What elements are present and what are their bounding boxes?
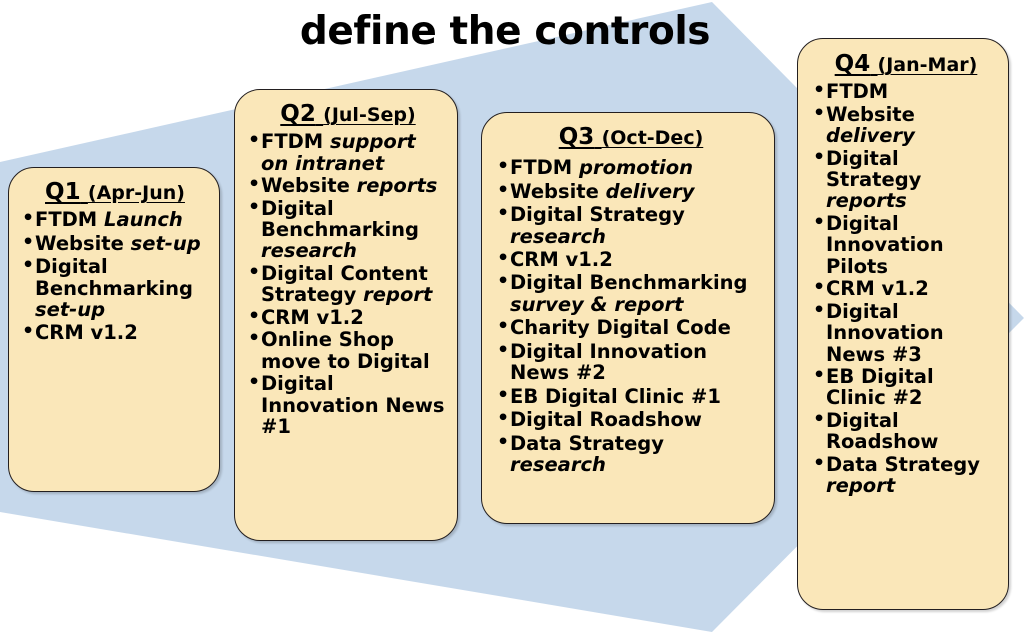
list-item: Charity Digital Code [496,317,766,338]
list-item-text: Data Strategy [510,432,664,455]
list-item-text: Website [826,103,915,126]
list-item-emphasis: research [261,239,357,262]
quarter-heading-q3: Q3 (Oct-Dec) [496,125,766,150]
list-item: Website set-up [21,233,209,254]
list-item-emphasis: set-up [131,232,201,255]
list-item: Digital Benchmarking research [247,198,449,262]
list-item-text: CRM v1.2 [826,277,929,300]
list-item-text: Website [510,180,606,203]
list-item: CRM v1.2 [247,307,449,328]
list-item: Data Strategy report [812,454,1000,497]
list-item-text: FTDM [261,130,330,153]
list-item-text: FTDM [35,208,104,231]
list-item-emphasis: report [363,283,432,306]
list-item-emphasis: report [826,474,895,497]
list-item: FTDM support on intranet [247,131,449,174]
quarter-card-q3[interactable]: Q3 (Oct-Dec) FTDM promotionWebsite deliv… [481,112,775,524]
list-item-emphasis: Launch [104,208,183,231]
slide-canvas: define the controls Q1 (Apr-Jun) FTDM La… [0,0,1024,634]
list-item-emphasis: delivery [826,124,915,147]
list-item-text: Charity Digital Code [510,316,731,339]
list-item-text: Digital Roadshow [510,408,702,431]
list-item-text: Data Strategy [826,453,980,476]
list-item: FTDM Launch [21,209,209,230]
list-item-text: CRM v1.2 [35,321,138,344]
list-item-text: EB Digital Clinic #1 [510,385,721,408]
list-item-text: Digital Roadshow [826,409,938,453]
quarter-heading-q4: Q4 (Jan-Mar) [812,52,1000,77]
quarter-label-q2: Q2 [280,101,316,127]
list-item: Website delivery [812,104,1000,147]
list-item: FTDM [812,81,1000,102]
quarter-period-q4: (Jan-Mar) [878,54,978,76]
quarter-items-q3: FTDM promotionWebsite deliveryDigital St… [496,157,766,475]
list-item-text: FTDM [510,156,579,179]
list-item-emphasis: research [510,453,606,476]
quarter-period-q1: (Apr-Jun) [88,182,185,204]
list-item: Digital Roadshow [496,409,766,430]
list-item-emphasis: promotion [579,156,693,179]
list-item-text: Digital Benchmarking [35,255,193,299]
list-item: Digital Benchmarking survey & report [496,272,766,315]
list-item-text: Website [261,174,357,197]
list-item-text: Digital Benchmarking [510,271,747,294]
list-item-emphasis: research [510,225,606,248]
list-item-text: FTDM [826,80,888,103]
list-item: Website delivery [496,181,766,202]
list-item-emphasis: delivery [606,180,695,203]
list-item: Digital Strategy research [496,204,766,247]
list-item-text: Online Shop move to Digital [261,328,430,372]
list-item: Website reports [247,175,449,196]
list-item-text: Digital Innovation News #1 [261,372,445,438]
list-item: Digital Benchmarking set-up [21,256,209,320]
quarter-card-q2[interactable]: Q2 (Jul-Sep) FTDM support on intranetWeb… [234,89,458,541]
quarter-card-q1[interactable]: Q1 (Apr-Jun) FTDM LaunchWebsite set-upDi… [8,167,220,492]
list-item: EB Digital Clinic #1 [496,386,766,407]
quarter-items-q4: FTDMWebsite deliveryDigital Strategy rep… [812,81,1000,496]
list-item-emphasis: reports [826,189,907,212]
list-item: Digital Strategy reports [812,148,1000,212]
list-item: Digital Innovation News #2 [496,341,766,384]
list-item: Data Strategy research [496,433,766,476]
list-item-text: Digital Strategy [826,147,921,191]
list-item: CRM v1.2 [496,249,766,270]
list-item-emphasis: reports [357,174,438,197]
quarter-period-q2: (Jul-Sep) [323,104,416,126]
list-item-text: Website [35,232,131,255]
quarter-heading-q1: Q1 (Apr-Jun) [21,180,209,205]
list-item-text: Digital Innovation News #2 [510,340,707,384]
quarter-label-q4: Q4 [835,51,871,77]
list-item: CRM v1.2 [812,278,1000,299]
list-item-text: EB Digital Clinic #2 [826,365,934,409]
quarter-card-q4[interactable]: Q4 (Jan-Mar) FTDMWebsite deliveryDigital… [797,38,1009,610]
list-item-emphasis: survey & report [510,293,683,316]
list-item: CRM v1.2 [21,322,209,343]
quarter-label-q1: Q1 [45,179,81,205]
quarter-items-q1: FTDM LaunchWebsite set-upDigital Benchma… [21,209,209,344]
list-item-text: CRM v1.2 [510,248,613,271]
list-item-text: Digital Benchmarking [261,197,419,241]
list-item-emphasis: set-up [35,298,105,321]
list-item-text: Digital Innovation News #3 [826,300,944,366]
list-item-text: CRM v1.2 [261,306,364,329]
list-item-text: Digital Strategy [510,203,685,226]
list-item-text: Digital Innovation Pilots [826,212,944,278]
list-item: FTDM promotion [496,157,766,178]
list-item: EB Digital Clinic #2 [812,366,1000,409]
list-item: Digital Roadshow [812,410,1000,453]
list-item: Digital Innovation News #3 [812,301,1000,365]
quarter-heading-q2: Q2 (Jul-Sep) [247,102,449,127]
list-item: Digital Innovation News #1 [247,373,449,437]
list-item: Digital Content Strategy report [247,263,449,306]
quarter-period-q3: (Oct-Dec) [602,127,704,149]
quarter-items-q2: FTDM support on intranetWebsite reportsD… [247,131,449,437]
list-item: Online Shop move to Digital [247,329,449,372]
quarter-label-q3: Q3 [559,124,595,150]
list-item: Digital Innovation Pilots [812,213,1000,277]
